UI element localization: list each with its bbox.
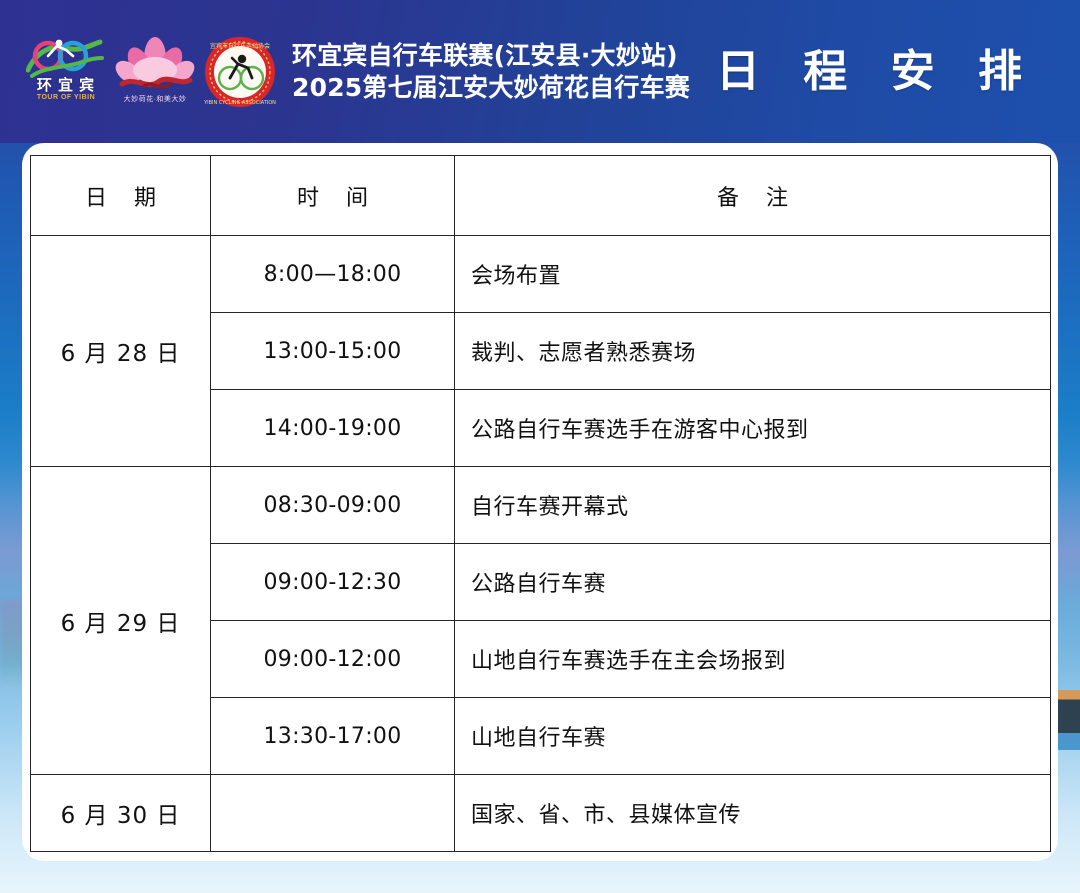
cell-note: 自行车赛开幕式 [455,467,1051,544]
cell-date: 6 月 30 日 [31,775,211,852]
svg-text:宜宾市自行车运动协会: 宜宾市自行车运动协会 [210,42,270,50]
svg-text:YIBIN CYCLING ASSOCIATION: YIBIN CYCLING ASSOCIATION [203,100,276,106]
schedule-card: 日 期 时 间 备 注 6 月 28 日8:00—18:00会场布置13:00-… [22,143,1058,861]
cell-note: 国家、省、市、县媒体宣传 [455,775,1051,852]
cell-date: 6 月 29 日 [31,467,211,775]
cell-time: 08:30-09:00 [211,467,455,544]
cyclist-ring-icon [26,36,104,82]
table-header-row: 日 期 时 间 备 注 [31,156,1051,236]
header-banner: 环 宜 宾 TOUR OF YIBIN 大妙荷花·和美大妙 [0,0,1080,143]
cell-time [211,775,455,852]
table-body: 6 月 28 日8:00—18:00会场布置13:00-15:00裁判、志愿者熟… [31,236,1051,852]
table-row: 6 月 30 日国家、省、市、县媒体宣传 [31,775,1051,852]
event-title-line-2: 2025第七届江安大妙荷花自行车赛 [292,72,690,104]
lotus-flower-icon [114,34,196,98]
cell-time: 09:00-12:00 [211,621,455,698]
column-header-time: 时 间 [211,156,455,236]
event-title-line-1: 环宜宾自行车联赛(江安县·大妙站) [292,40,690,72]
column-header-note: 备 注 [455,156,1051,236]
cell-note: 裁判、志愿者熟悉赛场 [455,313,1051,390]
cell-time: 09:00-12:30 [211,544,455,621]
cycling-emblem-icon: 宜宾市自行车运动协会 YIBIN CYCLING ASSOCIATION [202,34,278,110]
cell-time: 13:30-17:00 [211,698,455,775]
cell-note: 山地自行车赛 [455,698,1051,775]
table-row: 6 月 28 日8:00—18:00会场布置 [31,236,1051,313]
yibin-logo-cn-text: 环 宜 宾 [28,78,104,93]
table-row: 6 月 29 日08:30-09:00自行车赛开幕式 [31,467,1051,544]
page-title: 日 程 安 排 [716,48,1036,96]
cell-date: 6 月 28 日 [31,236,211,467]
damiao-lotus-logo: 大妙荷花·和美大妙 [114,34,196,110]
logo-group: 环 宜 宾 TOUR OF YIBIN 大妙荷花·和美大妙 [22,34,278,110]
cell-time: 8:00—18:00 [211,236,455,313]
event-title-block: 环宜宾自行车联赛(江安县·大妙站) 2025第七届江安大妙荷花自行车赛 [292,40,690,104]
lotus-logo-cn-text: 大妙荷花·和美大妙 [114,96,196,104]
cell-time: 14:00-19:00 [211,390,455,467]
cell-note: 公路自行车赛 [455,544,1051,621]
table-header: 日 期 时 间 备 注 [31,156,1051,236]
schedule-table: 日 期 时 间 备 注 6 月 28 日8:00—18:00会场布置13:00-… [30,155,1051,852]
cell-note: 山地自行车赛选手在主会场报到 [455,621,1051,698]
tour-of-yibin-logo: 环 宜 宾 TOUR OF YIBIN [22,34,108,110]
column-header-date: 日 期 [31,156,211,236]
cell-time: 13:00-15:00 [211,313,455,390]
cell-note: 公路自行车赛选手在游客中心报到 [455,390,1051,467]
yibin-logo-en-text: TOUR OF YIBIN [28,94,104,102]
cycling-association-logo: 宜宾市自行车运动协会 YIBIN CYCLING ASSOCIATION [202,34,278,110]
cell-note: 会场布置 [455,236,1051,313]
